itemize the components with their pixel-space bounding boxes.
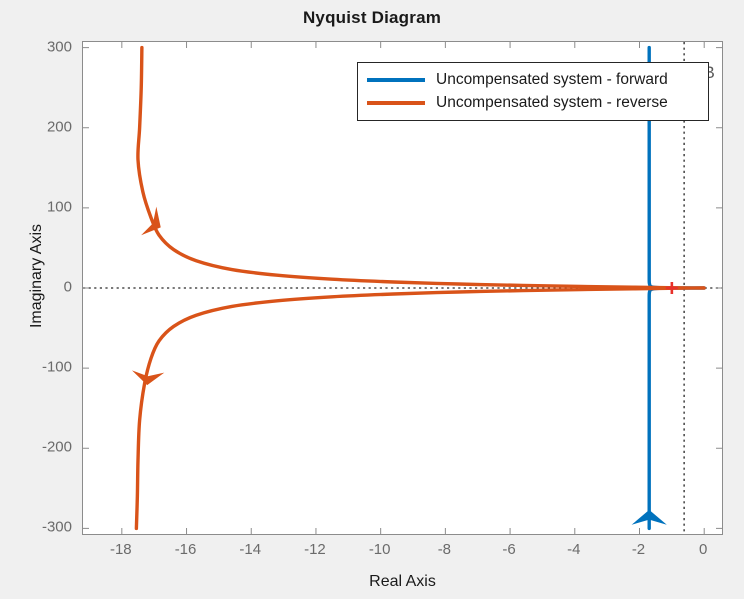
y-tick-label: 200 xyxy=(14,118,72,135)
x-tick-label: -10 xyxy=(369,541,391,558)
markers-group xyxy=(666,282,678,294)
legend-item-reverse[interactable]: Uncompensated system - reverse xyxy=(358,91,708,114)
legend-item-forward[interactable]: Uncompensated system - forward xyxy=(358,68,708,91)
x-tick-label: -16 xyxy=(175,541,197,558)
x-tick-label: -12 xyxy=(304,541,326,558)
x-tick-label: -8 xyxy=(438,541,451,558)
legend-label-forward: Uncompensated system - forward xyxy=(436,71,668,89)
page-title: Nyquist Diagram xyxy=(0,8,744,28)
legend[interactable]: Uncompensated system - forward Uncompens… xyxy=(357,62,709,121)
legend-swatch-forward xyxy=(367,78,425,82)
y-tick-label: -200 xyxy=(14,439,72,456)
x-tick-label: -4 xyxy=(567,541,580,558)
nyquist-figure: Nyquist Diagram 3002001000-100-200-300 -… xyxy=(0,0,744,599)
y-tick-label: 300 xyxy=(14,38,72,55)
x-tick-label: -14 xyxy=(239,541,261,558)
x-tick-label: -2 xyxy=(632,541,645,558)
critical-point xyxy=(666,282,678,294)
legend-swatch-reverse xyxy=(367,101,425,105)
legend-label-reverse: Uncompensated system - reverse xyxy=(436,94,668,112)
x-axis-label: Real Axis xyxy=(82,573,723,591)
arrow-reverse-upper xyxy=(141,207,168,242)
x-tick-label: -18 xyxy=(110,541,132,558)
direction-arrows-group xyxy=(131,207,667,525)
y-axis-label: Imaginary Axis xyxy=(28,176,46,376)
x-tick-label: -6 xyxy=(502,541,515,558)
x-tick-label: 0 xyxy=(699,541,707,558)
y-tick-label: -300 xyxy=(14,519,72,536)
